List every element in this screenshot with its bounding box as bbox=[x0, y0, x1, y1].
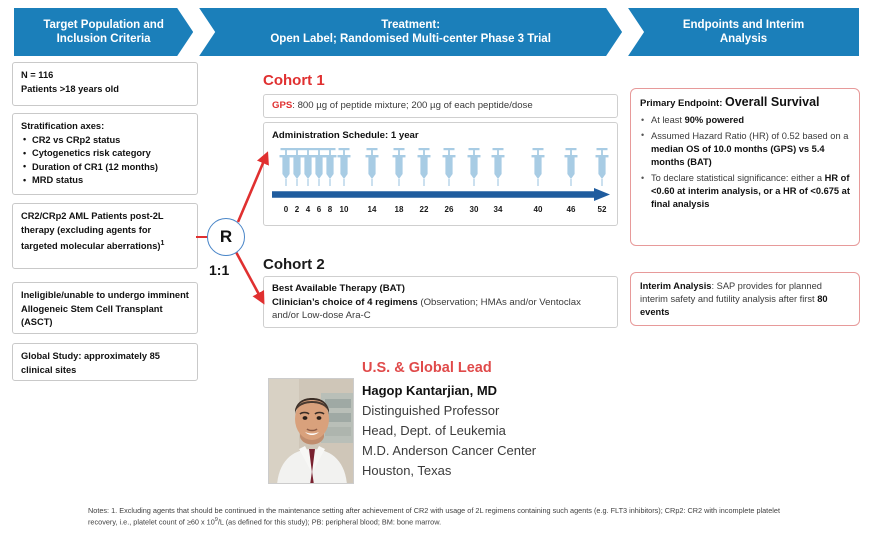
global-study-box: Global Study: approximately 85 clinical … bbox=[12, 343, 198, 381]
timeline-arrow-icon bbox=[272, 188, 610, 201]
primary-endpoint-header: Primary Endpoint: Overall Survival bbox=[640, 96, 850, 110]
lead-line-4: Houston, Texas bbox=[362, 461, 536, 481]
syringe-icon bbox=[565, 148, 578, 186]
population-n: N = 116 bbox=[21, 69, 189, 83]
syringe-icon bbox=[280, 148, 293, 186]
banner-endpoints: Endpoints and Interim Analysis bbox=[628, 8, 859, 56]
syringe-icon bbox=[324, 148, 337, 186]
ineligible-text: Ineligible/unable to undergo imminent Al… bbox=[21, 290, 189, 327]
primary-endpoint-label: Primary Endpoint bbox=[640, 98, 719, 109]
timeline-tick: 14 bbox=[368, 203, 377, 217]
syringe-icon bbox=[338, 148, 351, 186]
administration-timeline: 0246810141822263034404652 bbox=[272, 146, 610, 220]
banner-3-line-2: Analysis bbox=[683, 32, 804, 46]
population-box: N = 116 Patients >18 years old bbox=[12, 62, 198, 106]
lead-line-1: Distinguished Professor bbox=[362, 401, 536, 421]
gps-dose-box: GPS: 800 µg of peptide mixture; 200 µg o… bbox=[263, 94, 618, 118]
ineligible-box: Ineligible/unable to undergo imminent Al… bbox=[12, 282, 198, 334]
banner-1-line-1: Target Population and bbox=[43, 18, 164, 32]
stratification-box: Stratification axes: CR2 vs CRp2 status … bbox=[12, 113, 198, 195]
list-item: Cytogenetics risk category bbox=[21, 147, 189, 161]
syringe-icon bbox=[532, 148, 545, 186]
lead-name: Hagop Kantarjian, MD bbox=[362, 381, 536, 401]
slide-canvas: Target Population and Inclusion Criteria… bbox=[0, 0, 870, 560]
interim-analysis-box: Interim Analysis: SAP provides for plann… bbox=[630, 272, 860, 326]
timeline-tick: 0 bbox=[284, 203, 288, 217]
lead-line-3: M.D. Anderson Cancer Center bbox=[362, 441, 536, 461]
schedule-title: Administration Schedule: 1 year bbox=[272, 129, 609, 143]
timeline-tick: 22 bbox=[420, 203, 429, 217]
bat-regimens-label: Clinician’s choice of 4 regimens bbox=[272, 297, 418, 308]
patients-footnote-marker: 1 bbox=[161, 240, 165, 247]
interim-analysis-label: Interim Analysis bbox=[640, 281, 711, 291]
global-study-text: Global Study: approximately 85 clinical … bbox=[21, 351, 160, 375]
primary-endpoint-value: Overall Survival bbox=[725, 95, 820, 109]
timeline-tick: 40 bbox=[534, 203, 543, 217]
timeline-tick: 46 bbox=[567, 203, 576, 217]
footnote-notes: Notes: 1. Excluding agents that should b… bbox=[88, 506, 788, 527]
banner-2-line-1: Treatment: bbox=[270, 18, 551, 32]
lead-portrait-photo bbox=[268, 378, 354, 484]
syringe-icon bbox=[443, 148, 456, 186]
syringe-icon bbox=[393, 148, 406, 186]
list-item: Duration of CR1 (12 months) bbox=[21, 161, 189, 175]
timeline-tick: 10 bbox=[340, 203, 349, 217]
lead-info: Hagop Kantarjian, MD Distinguished Profe… bbox=[362, 381, 536, 481]
bullet-1-pre: Assumed Hazard Ratio (HR) of 0.52 based … bbox=[651, 131, 848, 141]
banner-target-population: Target Population and Inclusion Criteria bbox=[14, 8, 193, 56]
timeline-tick: 52 bbox=[598, 203, 607, 217]
syringe-icon bbox=[596, 148, 609, 186]
randomization-circle: R bbox=[207, 218, 245, 256]
primary-endpoint-list: At least 90% powered Assumed Hazard Rati… bbox=[640, 114, 850, 211]
banner-3-line-1: Endpoints and Interim bbox=[683, 18, 804, 32]
timeline-tick: 6 bbox=[317, 203, 321, 217]
lead-title: U.S. & Global Lead bbox=[362, 360, 492, 376]
administration-schedule-box: Administration Schedule: 1 year 02468101… bbox=[263, 122, 618, 226]
timeline-tick: 18 bbox=[395, 203, 404, 217]
randomization-label: R bbox=[220, 227, 232, 247]
bullet-2-pre: To declare statistical significance: eit… bbox=[651, 173, 825, 183]
portrait-illustration-icon bbox=[269, 379, 354, 484]
stratification-title: Stratification axes: bbox=[21, 120, 189, 134]
banner-1-line-2: Inclusion Criteria bbox=[43, 32, 164, 46]
timeline-tick: 26 bbox=[445, 203, 454, 217]
patients-text: CR2/CRp2 AML Patients post-2L therapy (e… bbox=[21, 211, 163, 251]
bullet-0-bold: 90% powered bbox=[685, 115, 744, 125]
population-age: Patients >18 years old bbox=[21, 83, 189, 97]
syringe-icon bbox=[468, 148, 481, 186]
notes-text-2: /L (as defined for this study); PB: peri… bbox=[218, 517, 441, 526]
timeline-tick: 8 bbox=[328, 203, 332, 217]
list-item: MRD status bbox=[21, 174, 189, 188]
primary-endpoint-box: Primary Endpoint: Overall Survival At le… bbox=[630, 88, 860, 246]
arrow-to-cohort2-icon bbox=[232, 248, 278, 310]
bullet-0-pre: At least bbox=[651, 115, 685, 125]
syringe-icon bbox=[492, 148, 505, 186]
arrow-to-cohort1-icon bbox=[232, 148, 278, 226]
syringe-icon bbox=[418, 148, 431, 186]
timeline-tick: 2 bbox=[295, 203, 299, 217]
cohort1-title: Cohort 1 bbox=[263, 72, 325, 89]
list-item: At least 90% powered bbox=[640, 114, 850, 127]
timeline-tick: 4 bbox=[306, 203, 310, 217]
header-banner-row: Target Population and Inclusion Criteria… bbox=[14, 8, 859, 56]
banner-2-line-2: Open Label; Randomised Multi-center Phas… bbox=[270, 32, 551, 46]
best-available-therapy-box: Best Available Therapy (BAT) Clinician’s… bbox=[263, 276, 618, 328]
syringe-icon bbox=[313, 148, 326, 186]
timeline-tick-labels: 0246810141822263034404652 bbox=[272, 203, 610, 217]
timeline-tick: 34 bbox=[494, 203, 503, 217]
bullet-1-bold: median OS of 10.0 months (GPS) vs 5.4 mo… bbox=[651, 144, 825, 167]
gps-text: : 800 µg of peptide mixture; 200 µg of e… bbox=[292, 99, 532, 113]
bat-line-1: Best Available Therapy (BAT) bbox=[272, 282, 609, 296]
lead-line-2: Head, Dept. of Leukemia bbox=[362, 421, 536, 441]
randomization-ratio: 1:1 bbox=[209, 262, 229, 278]
list-item: CR2 vs CRp2 status bbox=[21, 134, 189, 148]
syringe-row-icon bbox=[272, 146, 610, 186]
syringe-icon bbox=[302, 148, 315, 186]
gps-label: GPS bbox=[272, 99, 292, 113]
stratification-list: CR2 vs CRp2 status Cytogenetics risk cat… bbox=[21, 134, 189, 188]
banner-treatment: Treatment: Open Label; Randomised Multi-… bbox=[199, 8, 622, 56]
list-item: Assumed Hazard Ratio (HR) of 0.52 based … bbox=[640, 130, 850, 170]
syringe-icon bbox=[291, 148, 304, 186]
syringe-icon bbox=[366, 148, 379, 186]
patients-box: CR2/CRp2 AML Patients post-2L therapy (e… bbox=[12, 203, 198, 269]
list-item: To declare statistical significance: eit… bbox=[640, 172, 850, 212]
bat-line-2: Clinician’s choice of 4 regimens (Observ… bbox=[272, 296, 609, 323]
timeline-tick: 30 bbox=[470, 203, 479, 217]
